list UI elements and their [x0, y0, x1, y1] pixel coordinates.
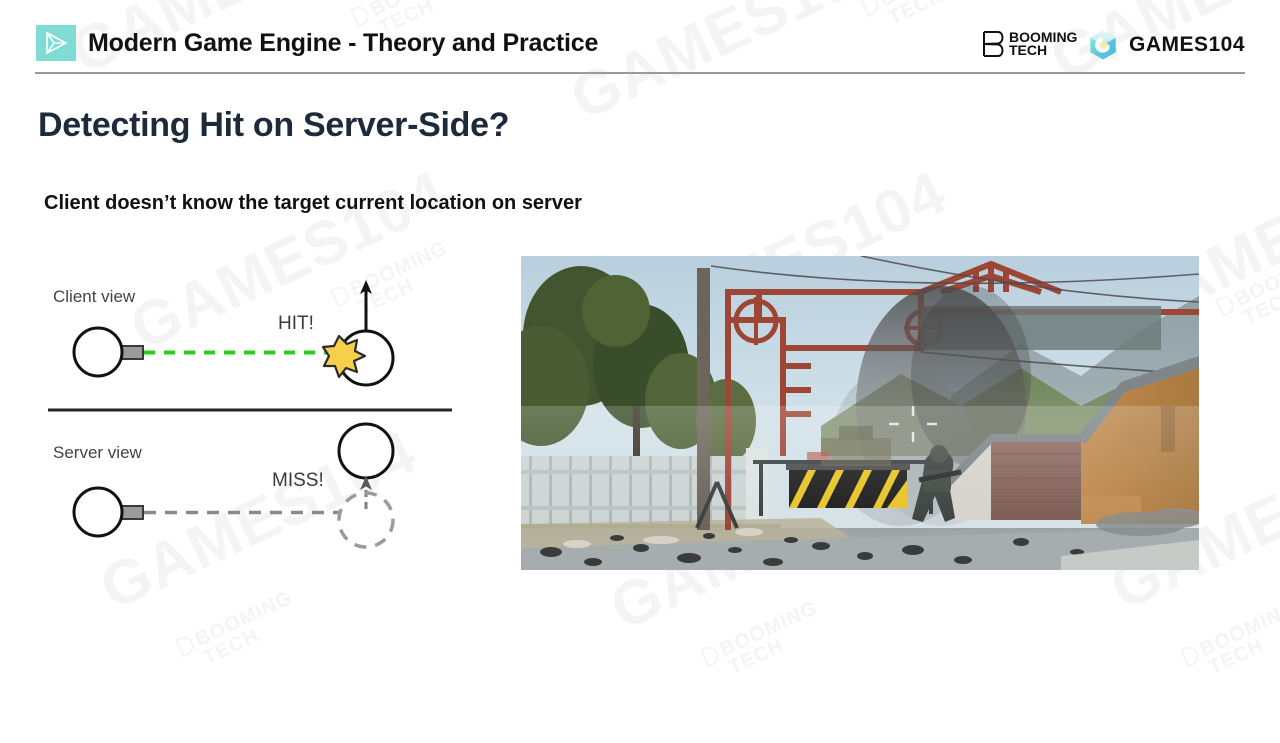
server-ghost-target-dashed-circle-icon: [339, 493, 393, 547]
game-scene-illustration: [521, 256, 1199, 570]
games104-logo: GAMES104: [1086, 28, 1245, 62]
page-title: Detecting Hit on Server-Side?: [38, 106, 509, 145]
server-view-label: Server view: [53, 443, 143, 462]
booming-b-icon: [982, 31, 1004, 57]
games104-cube-icon: [1086, 28, 1120, 62]
games104-wordmark: GAMES104: [1129, 33, 1245, 57]
server-actual-target-circle-icon: [339, 424, 393, 478]
booming-tech-wordmark: BOOMING TECH: [1009, 31, 1077, 57]
booming-tech-logo: BOOMING TECH: [982, 31, 1077, 57]
client-hit-label: HIT!: [278, 313, 314, 334]
watermark-booming-tech: BOOMING TECH: [175, 588, 304, 677]
header-title: Modern Game Engine - Theory and Practice: [88, 29, 598, 58]
slide-header: Modern Game Engine - Theory and Practice…: [0, 0, 1280, 76]
watermark-booming-tech: BOOMING TECH: [1180, 598, 1280, 687]
server-shooter-circle-icon: [74, 488, 122, 536]
watermark-booming-tech: BOOMING TECH: [700, 598, 829, 687]
slide-root: GAMES104 GAMES104 GAMES104 GAMES104 GAME…: [0, 0, 1280, 743]
header-divider: [35, 72, 1245, 74]
booming-b-icon: [1215, 294, 1237, 318]
booming-b-icon: [700, 644, 722, 668]
play-triangle-icon: [43, 31, 69, 55]
client-server-hit-diagram: Client view HIT! Server view: [40, 262, 480, 562]
page-subtitle: Client doesn’t know the target current l…: [44, 192, 582, 215]
game-screenshot: [521, 256, 1199, 570]
brand-mark: [36, 25, 76, 61]
booming-b-icon: [1180, 644, 1202, 668]
server-miss-label: MISS!: [272, 470, 324, 491]
client-view-label: Client view: [53, 287, 136, 306]
client-shooter-circle-icon: [74, 328, 122, 376]
watermark-booming-tech: BOOMING TECH: [1215, 248, 1280, 337]
atmospheric-haze: [521, 406, 1199, 526]
booming-b-icon: [175, 634, 197, 658]
